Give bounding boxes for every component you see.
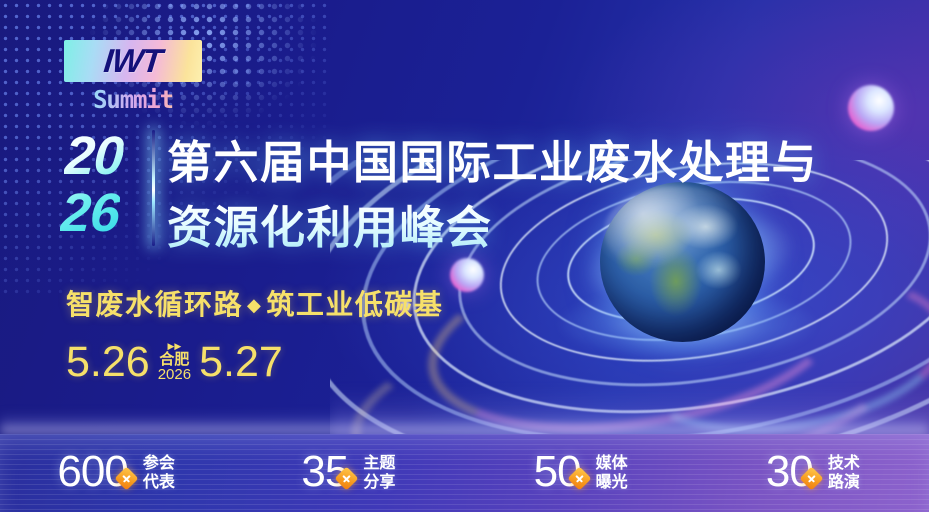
- slogan-left: 智废水循环路: [66, 288, 243, 321]
- stat-label-line-1: 主题: [363, 453, 395, 472]
- stat-item: 50 媒体 曝光: [465, 450, 697, 496]
- event-slogan: 智废水循环路◆筑工业低碳基: [66, 283, 443, 323]
- stats-bar-top-glow: [0, 412, 929, 434]
- decorative-sphere: [848, 85, 894, 131]
- title-line-1: 第六届中国国际工业废水处理与: [167, 130, 818, 195]
- diamond-separator-icon: ◆: [243, 295, 266, 316]
- year-bottom: 26: [59, 185, 121, 242]
- event-dates: 5.26 ▶▶ 合肥 2026 5.27: [66, 338, 283, 387]
- logo-wordmark: Summit: [67, 85, 199, 114]
- title-line-2: 资源化利用峰会: [167, 195, 818, 260]
- stats-bar: 600 参会 代表 35 主题 分享 50 媒体 曝光 30: [0, 434, 929, 512]
- stat-label-line-2: 代表: [143, 472, 175, 491]
- vertical-glow-divider: [152, 130, 155, 246]
- stat-item: 600 参会 代表: [0, 450, 232, 496]
- stat-item: 35 主题 分享: [232, 450, 464, 496]
- stat-number: 600: [57, 450, 127, 494]
- decorative-sphere: [450, 258, 484, 292]
- stat-label-line-1: 参会: [143, 453, 175, 472]
- date-location-block: ▶▶ 合肥 2026: [156, 342, 193, 383]
- stat-label-line-2: 分享: [363, 472, 395, 491]
- logo-badge: IWT: [64, 40, 202, 82]
- date-start: 5.26: [66, 338, 150, 387]
- logo-mark-text: IWT: [102, 42, 163, 80]
- stat-label: 媒体 曝光: [596, 453, 628, 491]
- slogan-right: 筑工业低碳基: [266, 288, 443, 321]
- event-city: 合肥: [159, 351, 189, 367]
- double-arrow-icon: ▶▶: [167, 342, 181, 350]
- stat-label: 技术 路演: [828, 453, 860, 491]
- event-year: 2026: [158, 367, 191, 383]
- event-year-block: 20 26: [59, 128, 125, 242]
- year-top: 20: [63, 128, 125, 185]
- page-title: 第六届中国国际工业废水处理与 资源化利用峰会: [167, 130, 818, 260]
- event-banner: IWT Summit 20 26 第六届中国国际工业废水处理与 资源化利用峰会 …: [0, 0, 929, 512]
- stat-label-line-2: 曝光: [596, 472, 628, 491]
- iwt-summit-logo: IWT Summit: [64, 40, 204, 114]
- stat-label-line-2: 路演: [828, 472, 860, 491]
- stat-item: 30 技术 路演: [697, 450, 929, 496]
- stat-label-line-1: 技术: [828, 453, 860, 472]
- date-end: 5.27: [199, 338, 283, 387]
- stat-label-line-1: 媒体: [596, 453, 628, 472]
- stat-label: 参会 代表: [143, 453, 175, 491]
- stat-label: 主题 分享: [363, 453, 395, 491]
